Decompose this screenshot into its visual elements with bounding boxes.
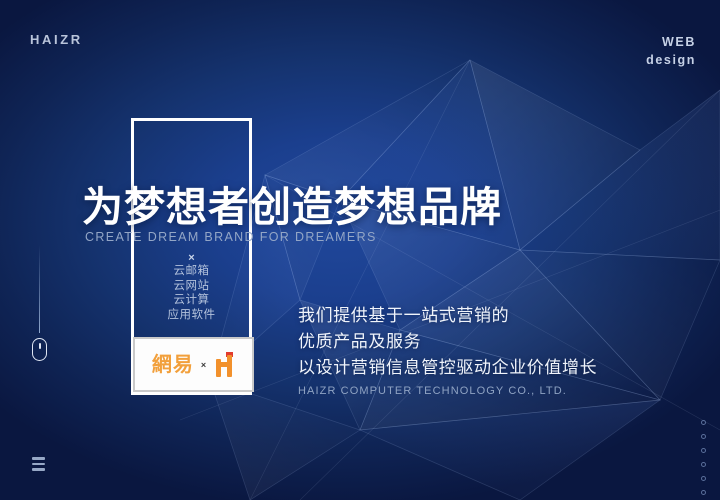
hamburger-bar <box>32 468 45 471</box>
corner-tag-line2: design <box>646 51 696 69</box>
logo-separator-icon: × <box>201 360 206 370</box>
partner-logo-plate: 網易 × <box>133 337 254 392</box>
pager-dot[interactable] <box>701 462 706 467</box>
hamburger-bar <box>32 463 45 466</box>
company-legal-name: HAIZR COMPUTER TECHNOLOGY CO., LTD. <box>298 385 597 397</box>
service-list: 云邮箱 云网站 云计算 应用软件 <box>131 264 252 322</box>
page-subtitle: CREATE DREAM BRAND FOR DREAMERS <box>85 230 377 244</box>
list-item[interactable]: 云计算 <box>131 293 252 308</box>
copy-line-2: 优质产品及服务 <box>298 329 597 355</box>
pager-dot[interactable] <box>701 476 706 481</box>
scroll-rail-line <box>39 245 40 333</box>
hamburger-bar <box>32 457 45 460</box>
hamburger-menu-icon[interactable] <box>32 457 45 471</box>
pager-dot[interactable] <box>701 434 706 439</box>
list-item[interactable]: 云网站 <box>131 279 252 294</box>
corner-tag: WEB design <box>646 33 696 69</box>
netease-logo-text: 網易 <box>152 355 194 375</box>
page-title: 为梦想者创造梦想品牌 <box>82 183 502 231</box>
list-item[interactable]: 云邮箱 <box>131 264 252 279</box>
body-copy: 我们提供基于一站式营销的 优质产品及服务 以设计营销信息管控驱动企业价值增长 H… <box>298 303 597 397</box>
cross-divider-icon: × <box>131 252 252 264</box>
scroll-mouse-icon[interactable] <box>32 338 47 361</box>
polygon-background <box>0 0 720 500</box>
slide-pager-dots[interactable] <box>701 420 706 495</box>
copy-line-1: 我们提供基于一站式营销的 <box>298 303 597 329</box>
brand-logo-text[interactable]: HAIZR <box>30 32 83 47</box>
pager-dot[interactable] <box>701 490 706 495</box>
pager-dot[interactable] <box>701 420 706 425</box>
haizr-h-mark-icon <box>213 353 235 377</box>
list-item[interactable]: 应用软件 <box>131 308 252 323</box>
slide-canvas: HAIZR WEB design 为梦想者创造梦想品牌 CREATE DREAM… <box>0 0 720 500</box>
copy-line-3: 以设计营销信息管控驱动企业价值增长 <box>298 355 597 381</box>
pager-dot[interactable] <box>701 448 706 453</box>
corner-tag-line1: WEB <box>646 33 696 51</box>
h-mark-crossbar <box>216 362 232 367</box>
